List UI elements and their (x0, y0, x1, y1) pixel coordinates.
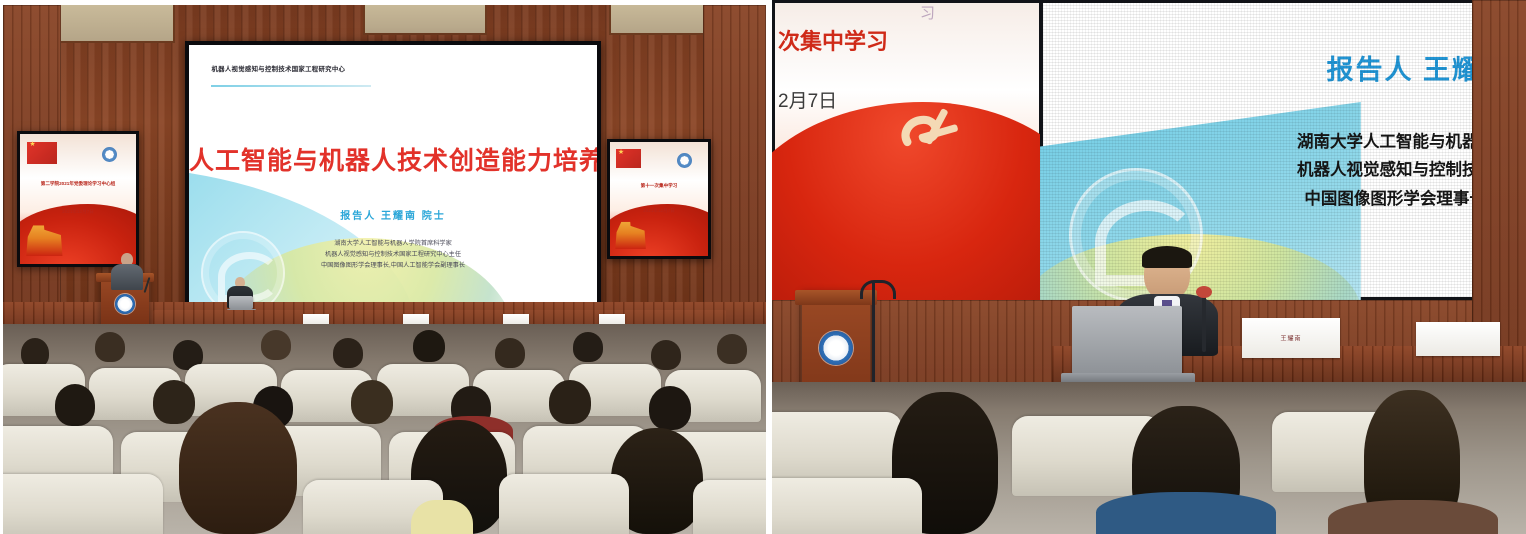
wall-column-right (703, 5, 766, 335)
slide-affiliation-line-3: 中国图像图形学会理事长,中国人工智能学会副理事长 (189, 261, 597, 272)
wall-panel-beige-2 (363, 5, 487, 35)
university-emblem-icon-2 (677, 153, 692, 168)
hammer-and-sickle-icon (885, 102, 977, 162)
audience-area-left (3, 324, 766, 534)
host-torso (111, 264, 143, 290)
audience-head (495, 338, 525, 368)
audience-seat-foreground (3, 474, 163, 534)
audience-head (717, 334, 747, 364)
left-led-line-3: 习 (920, 2, 935, 23)
side-screen-line-1: 第二学院2021年党委理论学习中心组 (27, 180, 129, 187)
side-led-screen-right: 第十一次集中学习 2021年12月7日 (607, 139, 711, 259)
side-screen-content-right: 第十一次集中学习 2021年12月7日 (610, 142, 708, 256)
audience-head (333, 338, 363, 368)
audience-head (413, 330, 445, 362)
monument-illustration-2 (614, 210, 647, 249)
audience-head (261, 330, 291, 360)
slide-affiliation-lines: 湖南大学人工智能与机器人学院首席科学家 机器人视觉感知与控制技术国家工程研究中心… (189, 239, 597, 272)
audience-head (153, 380, 195, 424)
slide-affiliation-line-2: 机器人视觉感知与控制技术国家工程研究中心主任 (189, 250, 597, 261)
left-led-line-1: 次集中学习 (778, 24, 888, 56)
audience-head-foreground (179, 402, 297, 534)
right-photo-panel: 习 次集中学习 2月7日 报告人 王耀南 湖南大学人工智能与机器人学院 机器人视… (772, 0, 1526, 534)
side-led-screen-left: 第二学院2021年党委理论学习中心组 2021年12月7日 (17, 131, 139, 267)
chinese-flag-icon (27, 142, 57, 164)
desk-microphone-icon (1202, 292, 1206, 352)
side-screen-line-1-right: 第十一次集中学习 (616, 182, 702, 189)
left-led-panel: 习 次集中学习 2月7日 (772, 0, 1042, 300)
left-led-line-2: 2月7日 (778, 86, 837, 113)
slide-speaker-line: 报告人 王耀南 院士 (189, 207, 597, 222)
audience-head (351, 380, 393, 424)
audience-head (95, 332, 125, 362)
audience-head (55, 384, 95, 426)
presenter-hair-icon (1142, 246, 1192, 268)
chinese-flag-icon-2 (616, 149, 641, 168)
wall-panel-beige-1 (59, 5, 175, 43)
podium-crest-icon-right (819, 331, 853, 365)
podium-crest-icon (115, 294, 135, 314)
audience-head (573, 332, 603, 362)
second-namecard (1416, 322, 1500, 356)
audience-head (651, 340, 681, 370)
presenter-namecard: 王耀南 (1242, 318, 1340, 358)
slide-title: 人工智能与机器人技术创造能力培养 (189, 141, 597, 177)
speaker-laptop (229, 296, 253, 309)
host-at-podium (107, 253, 147, 287)
slide-header-text: 机器人视觉感知与控制技术国家工程研究中心 (211, 64, 345, 73)
audience-shoulders (1096, 492, 1276, 534)
audience-yellow-coat (411, 500, 473, 534)
mic-arm (860, 280, 896, 299)
side-screen-content-left: 第二学院2021年党委理论学习中心组 2021年12月7日 (20, 134, 136, 264)
audience-area-right (772, 382, 1526, 534)
audience-head (649, 386, 691, 430)
audience-seat-foreground (772, 478, 922, 534)
audience-head (549, 380, 591, 424)
slide-affiliation-line-1: 湖南大学人工智能与机器人学院首席科学家 (189, 239, 597, 250)
desk-mic-head-icon (1196, 286, 1212, 298)
presenter-laptop (1072, 306, 1182, 374)
presenter-namecard-text: 王耀南 (1242, 334, 1340, 343)
audience-shoulders (1328, 500, 1498, 534)
left-photo-panel: 机器人视觉感知与控制技术国家工程研究中心 人工智能与机器人技术创造能力培养 报告… (3, 5, 766, 534)
audience-seat-foreground (693, 480, 766, 534)
university-emblem-icon (102, 147, 117, 162)
photo-composite: 机器人视觉感知与控制技术国家工程研究中心 人工智能与机器人技术创造能力培养 报告… (0, 0, 1526, 534)
slide-header-rule (211, 85, 370, 87)
monument-illustration (25, 212, 64, 256)
audience-seat-foreground (499, 474, 629, 534)
